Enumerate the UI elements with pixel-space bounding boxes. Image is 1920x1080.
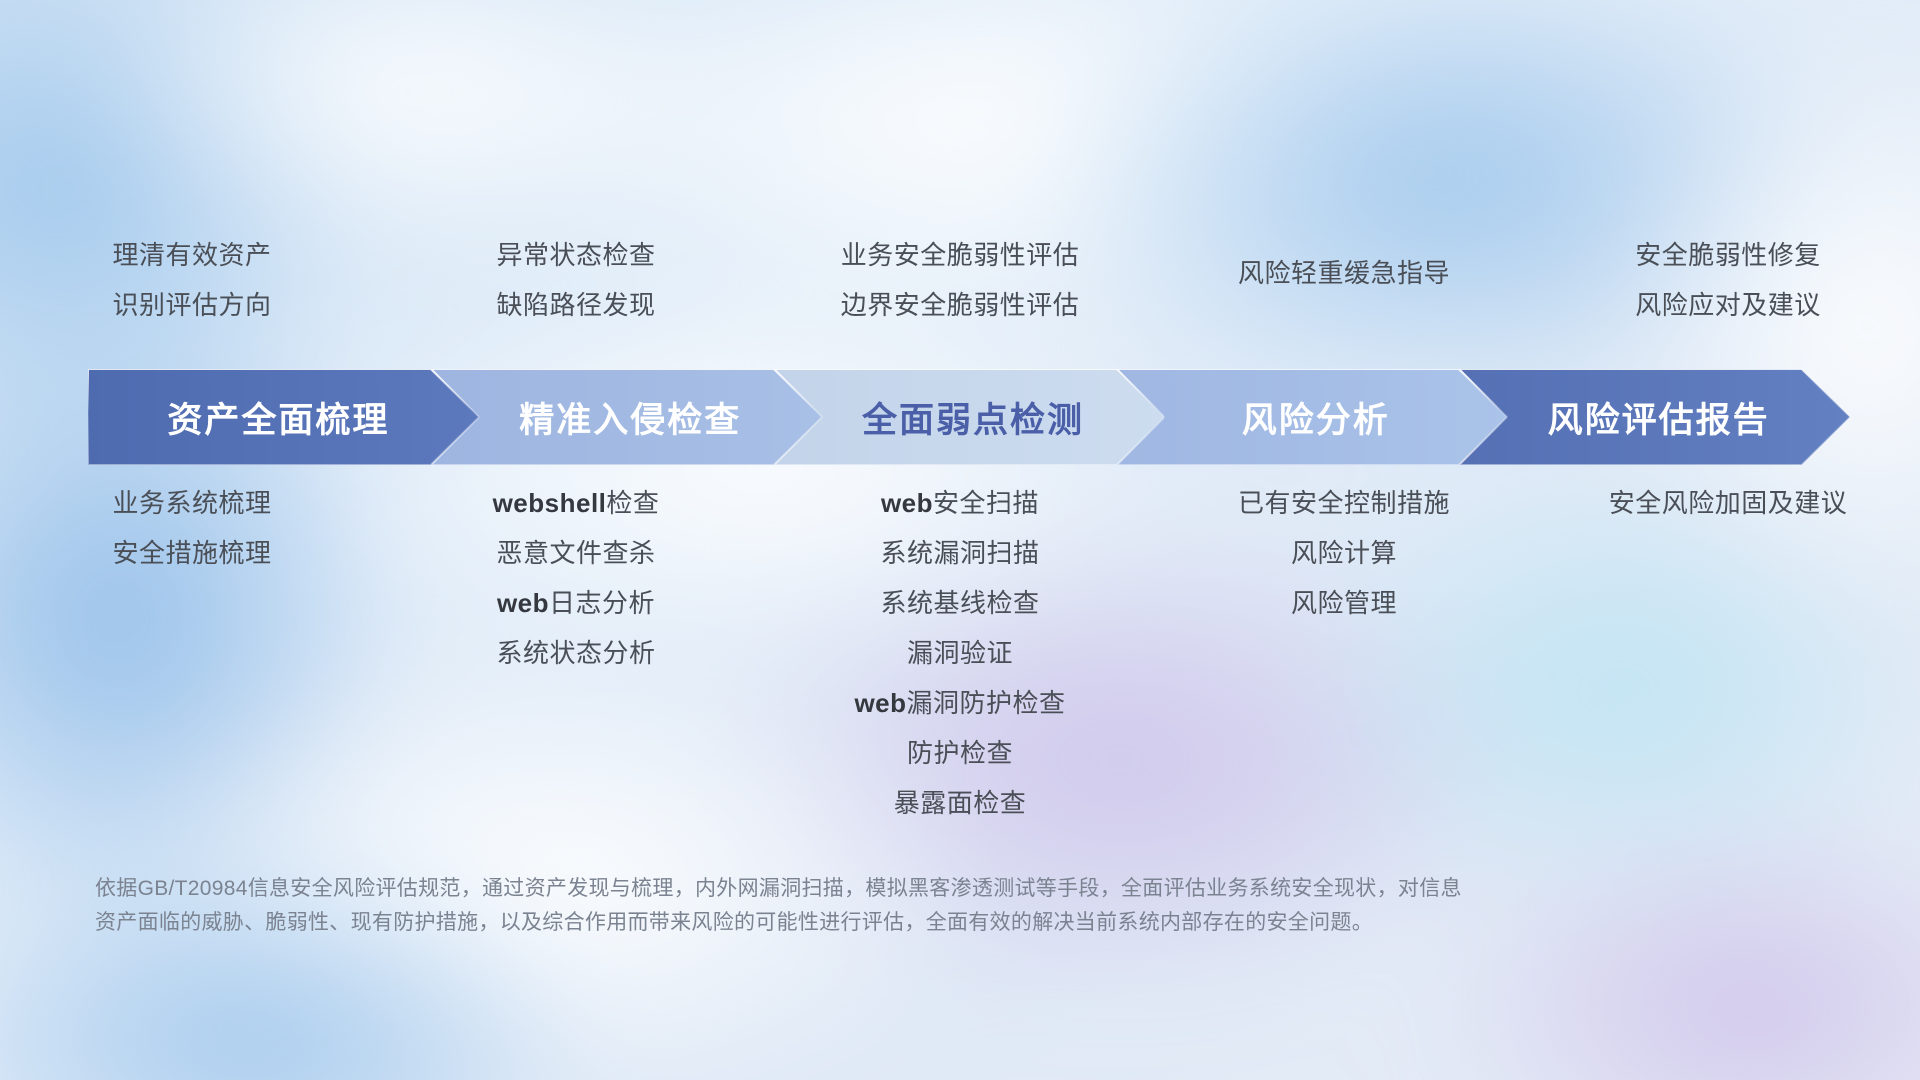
bottom-label-text: 系统漏洞扫描 <box>880 538 1039 568</box>
top-label-item: 风险应对及建议 <box>1635 280 1821 330</box>
top-label-row: 理清有效资产识别评估方向异常状态检查缺陷路径发现业务安全脆弱性评估边界安全脆弱性… <box>0 230 1920 350</box>
bottom-label-item: 业务系统梳理 <box>112 478 271 528</box>
bottom-label-text: 暴露面检查 <box>894 788 1027 818</box>
bottom-label-column-1: 业务系统梳理安全措施梳理 <box>0 478 384 578</box>
bottom-label-text: 风险计算 <box>1291 538 1397 568</box>
process-stage-label: 资产全面梳理 <box>167 392 389 443</box>
bottom-label-text: 恶意文件查杀 <box>496 538 655 568</box>
top-label-item: 边界安全脆弱性评估 <box>841 280 1080 330</box>
top-label-item: 缺陷路径发现 <box>496 280 655 330</box>
top-label-item: 风险轻重缓急指导 <box>1238 248 1450 298</box>
bottom-label-text: 防护检查 <box>907 738 1013 768</box>
process-stage-label: 全面弱点检测 <box>862 392 1084 443</box>
bottom-label-item: webshell检查 <box>493 478 660 528</box>
bottom-label-bold-prefix: web <box>854 688 906 718</box>
top-label-item: 安全脆弱性修复 <box>1635 230 1821 280</box>
bottom-label-text: 安全风险加固及建议 <box>1609 488 1848 518</box>
bottom-label-bold-prefix: web <box>881 488 933 518</box>
bottom-label-column-2: webshell检查恶意文件查杀web日志分析系统状态分析 <box>384 478 768 678</box>
bottom-label-item: 系统基线检查 <box>880 578 1039 628</box>
bottom-label-text: 已有安全控制措施 <box>1238 488 1450 518</box>
bottom-label-item: web日志分析 <box>497 578 655 628</box>
process-stage-label: 精准入侵检查 <box>519 392 741 443</box>
bottom-label-item: 已有安全控制措施 <box>1238 478 1450 528</box>
bottom-label-item: 漏洞验证 <box>907 628 1013 678</box>
bottom-label-text: 检查 <box>606 488 659 518</box>
bottom-label-item: 系统状态分析 <box>496 628 655 678</box>
bottom-label-text: 业务系统梳理 <box>112 488 271 518</box>
bottom-label-item: web漏洞防护检查 <box>854 678 1065 728</box>
footer-line-2: 资产面临的威胁、脆弱性、现有防护措施，以及综合作用而带来风险的可能性进行评估，全… <box>95 906 1595 940</box>
top-label-item: 理清有效资产 <box>112 230 271 280</box>
bottom-label-item: 安全措施梳理 <box>112 528 271 578</box>
process-stage-5[interactable]: 风险评估报告 <box>1459 369 1850 465</box>
process-stage-label: 风险评估报告 <box>1548 392 1770 443</box>
top-label-column-4: 风险轻重缓急指导 <box>1152 230 1536 350</box>
bottom-label-text: 漏洞防护检查 <box>907 688 1066 718</box>
bottom-label-text: 安全措施梳理 <box>112 538 271 568</box>
bottom-label-item: 风险计算 <box>1291 528 1397 578</box>
footer-line-1: 依据GB/T20984信息安全风险评估规范，通过资产发现与梳理，内外网漏洞扫描，… <box>95 872 1595 906</box>
bottom-label-item: 防护检查 <box>907 728 1013 778</box>
bottom-label-column-4: 已有安全控制措施风险计算风险管理 <box>1152 478 1536 628</box>
bottom-label-bold-prefix: web <box>497 588 549 618</box>
top-label-item: 异常状态检查 <box>496 230 655 280</box>
top-label-item: 识别评估方向 <box>112 280 271 330</box>
bottom-label-text: 系统基线检查 <box>880 588 1039 618</box>
bottom-label-column-5: 安全风险加固及建议 <box>1536 478 1920 528</box>
top-label-column-1: 理清有效资产识别评估方向 <box>0 230 384 350</box>
process-stage-1[interactable]: 资产全面梳理 <box>88 369 479 465</box>
bottom-label-text: 风险管理 <box>1291 588 1397 618</box>
bottom-label-row: 业务系统梳理安全措施梳理webshell检查恶意文件查杀web日志分析系统状态分… <box>0 478 1920 838</box>
process-stage-3[interactable]: 全面弱点检测 <box>774 369 1165 465</box>
top-label-column-5: 安全脆弱性修复风险应对及建议 <box>1536 230 1920 350</box>
top-label-column-2: 异常状态检查缺陷路径发现 <box>384 230 768 350</box>
process-stage-4[interactable]: 风险分析 <box>1116 369 1507 465</box>
bottom-label-text: 系统状态分析 <box>496 638 655 668</box>
bottom-label-item: 风险管理 <box>1291 578 1397 628</box>
bottom-label-item: 暴露面检查 <box>894 778 1027 828</box>
process-stage-2[interactable]: 精准入侵检查 <box>431 369 822 465</box>
bottom-label-item: web安全扫描 <box>881 478 1039 528</box>
top-label-column-3: 业务安全脆弱性评估边界安全脆弱性评估 <box>768 230 1152 350</box>
top-label-item: 业务安全脆弱性评估 <box>841 230 1080 280</box>
bottom-label-text: 漏洞验证 <box>907 638 1013 668</box>
process-stage-label: 风险分析 <box>1242 392 1390 443</box>
bottom-label-bold-prefix: webshell <box>493 488 607 518</box>
footer-description: 依据GB/T20984信息安全风险评估规范，通过资产发现与梳理，内外网漏洞扫描，… <box>95 872 1595 940</box>
bottom-label-text: 日志分析 <box>549 588 655 618</box>
bottom-label-item: 恶意文件查杀 <box>496 528 655 578</box>
process-arrow-band: 资产全面梳理精准入侵检查全面弱点检测风险分析风险评估报告 <box>88 369 1850 465</box>
bottom-label-item: 系统漏洞扫描 <box>880 528 1039 578</box>
bottom-label-text: 安全扫描 <box>933 488 1039 518</box>
bottom-label-column-3: web安全扫描系统漏洞扫描系统基线检查漏洞验证web漏洞防护检查防护检查暴露面检… <box>768 478 1152 828</box>
bottom-label-item: 安全风险加固及建议 <box>1609 478 1848 528</box>
